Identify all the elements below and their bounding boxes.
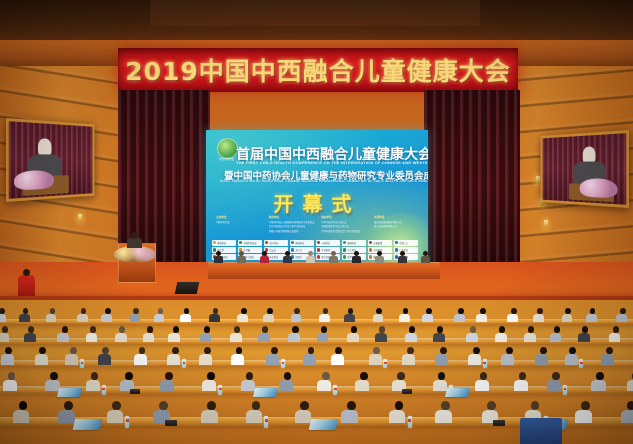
sponsor-mark-icon <box>343 241 346 244</box>
audience-head <box>213 308 219 314</box>
audience-head <box>184 308 190 314</box>
audience-member <box>595 372 606 391</box>
audience-member <box>469 326 478 342</box>
smartphone <box>165 420 177 426</box>
projection-screen-left <box>6 118 94 202</box>
audience-torso <box>550 333 562 343</box>
audience-torso <box>507 314 518 323</box>
audience-head <box>407 347 414 354</box>
organiser-column: 承办单位：中国中药协会儿童健康与药物研究专业委员会北京中西医结合学会儿科专业委员… <box>269 216 315 240</box>
audience-member <box>0 326 9 342</box>
audience-torso <box>373 314 384 323</box>
audience-head <box>506 347 513 354</box>
standing-attendant-body <box>18 275 35 297</box>
audience-torso <box>547 380 561 391</box>
audience-torso <box>433 333 445 343</box>
sponsor-mark-icon <box>239 241 242 244</box>
sponsor-name: 白云山 <box>269 248 276 252</box>
audience-head <box>102 347 109 354</box>
audience-torso <box>77 314 88 323</box>
organiser-line: 中国中药协会 <box>216 221 262 225</box>
audience-member <box>568 347 578 365</box>
audience-torso <box>468 354 481 364</box>
sponsor-mark-icon <box>317 255 320 258</box>
panelist-body <box>214 256 223 263</box>
audience-head <box>252 401 261 410</box>
audience-member <box>579 401 592 423</box>
audience-member <box>206 372 217 391</box>
organiser-columns: 主办单位：中国中药协会承办单位：中国中药协会儿童健康与药物研究专业委员会北京中西… <box>216 216 420 240</box>
audience-head <box>373 347 380 354</box>
audience-head <box>552 372 559 380</box>
wall-lamp-icon <box>78 214 82 222</box>
audience-member <box>359 372 370 391</box>
audience-head <box>540 347 547 354</box>
water-bottle <box>125 416 129 428</box>
audience-torso <box>35 354 48 364</box>
smartphone <box>402 389 412 394</box>
audience-head <box>511 308 517 314</box>
audience-torso <box>86 333 98 343</box>
audience-torso <box>562 314 573 323</box>
audience-head <box>620 308 626 314</box>
water-bottle <box>281 359 285 368</box>
audience-torso <box>575 410 591 423</box>
audience-torso <box>375 333 387 343</box>
audience-torso <box>143 333 155 343</box>
sponsor-logo: 神威药业 <box>290 240 314 246</box>
audience-torso <box>295 410 311 423</box>
sponsor-mark-icon <box>317 248 320 251</box>
audience-head <box>376 308 382 314</box>
audience-member <box>156 308 164 322</box>
audience-torso <box>495 333 507 343</box>
organiser-column: 主办单位：中国中药协会 <box>216 216 262 240</box>
sponsor-logo: 以岭药业 <box>316 240 340 246</box>
conference-booklet <box>308 419 337 430</box>
audience-torso <box>180 314 191 323</box>
sponsor-logo: 康缘药业 <box>342 240 366 246</box>
panelist-body <box>352 256 361 263</box>
audience-member <box>234 347 244 365</box>
audience-member <box>538 347 548 365</box>
audience-member <box>291 326 300 342</box>
audience-torso <box>202 380 216 391</box>
sponsor-name: 好医生 <box>295 255 302 259</box>
audience-head <box>271 347 278 354</box>
audience-head <box>207 372 214 380</box>
audience-member <box>536 308 544 322</box>
audience-member <box>306 347 316 365</box>
audience-member <box>625 401 633 423</box>
sponsor-name: 康缘药业 <box>347 241 356 245</box>
audience-head <box>284 372 291 380</box>
speaker-body <box>127 238 142 248</box>
organiser-line: 济川药业集团有限公司 <box>374 225 420 229</box>
audience-torso <box>435 354 448 364</box>
audience-member <box>89 372 100 391</box>
audience-member <box>345 401 358 423</box>
audience-member <box>282 372 293 391</box>
audience-head <box>204 326 210 333</box>
audience-torso <box>200 333 212 343</box>
audience-head <box>8 372 15 380</box>
audience-member <box>6 372 17 391</box>
audience-member <box>183 308 191 322</box>
audience-head <box>403 308 409 314</box>
audience-member <box>137 347 147 365</box>
audience-torso <box>65 354 78 364</box>
audience-torso <box>130 314 141 323</box>
audience-torso <box>341 410 357 423</box>
audience-member <box>393 401 406 423</box>
audience-head <box>90 326 96 333</box>
sponsor-mark-icon <box>317 241 320 244</box>
screen-subtitle-en-secondary: CHINA ASSOCIATION OF TRADITIONAL CHINESE… <box>220 179 428 183</box>
audience-member <box>471 347 481 365</box>
audience-torso <box>237 314 248 323</box>
conference-booklet <box>253 388 278 397</box>
panelist-body <box>260 256 269 263</box>
sponsor-name: 天士力 <box>295 248 302 252</box>
panelist-body <box>421 256 430 263</box>
audience-torso <box>621 410 633 423</box>
audience-member <box>604 347 614 365</box>
audience-torso <box>266 354 279 364</box>
organiser-column: 支持单位：葵花药业集团股份有限公司济川药业集团有限公司 <box>374 216 420 240</box>
led-stage-screen: 中国中药协会 首届中国中西融合儿童健康大会 THE FIRST CHILD HE… <box>206 130 428 265</box>
audience-member <box>402 308 410 322</box>
sponsor-name: 以岭药业 <box>321 241 330 245</box>
panelist-body <box>375 256 384 263</box>
panelist-body <box>283 256 292 263</box>
audience-member <box>68 347 78 365</box>
water-bottle <box>579 359 583 368</box>
audience-member <box>619 308 627 322</box>
audience-torso <box>591 380 605 391</box>
audience-torso <box>279 380 293 391</box>
audience-torso <box>46 314 57 323</box>
audience-head <box>133 308 139 314</box>
audience-member <box>62 401 75 423</box>
water-bottle <box>563 385 567 395</box>
audience-head <box>5 347 12 354</box>
audience-torso <box>58 410 74 423</box>
audience-torso <box>101 314 112 323</box>
audience-torso <box>230 333 242 343</box>
audience-member <box>171 347 181 365</box>
audience-member <box>171 326 180 342</box>
conference-booklet <box>57 388 82 397</box>
audience-head <box>321 326 327 333</box>
audience-torso <box>405 333 417 343</box>
screen-subtitle-en: THE FIRST CHILD HEALTH CONFERENCE ON THE… <box>236 160 426 165</box>
audience-torso <box>303 354 316 364</box>
sponsor-logo: 华润三九 <box>394 240 418 246</box>
audience-torso <box>601 354 614 364</box>
audience-seating <box>0 300 633 444</box>
audience-torso <box>134 354 147 364</box>
sponsor-name: 太极集团 <box>373 241 382 245</box>
audience-head <box>351 326 357 333</box>
audience-head <box>596 372 603 380</box>
organiser-line: 世界中医药学会联合会儿科专业委员会 <box>321 230 367 234</box>
audience-member <box>60 326 69 342</box>
audience-torso <box>263 314 274 323</box>
audience-member <box>334 347 344 365</box>
audience-head <box>139 347 146 354</box>
conference-booklet <box>445 388 470 397</box>
audience-head <box>241 308 247 314</box>
audience-head <box>236 347 243 354</box>
audience-member <box>350 326 359 342</box>
audience-head <box>565 308 571 314</box>
audience-member <box>478 372 489 391</box>
audience-head <box>2 326 8 333</box>
audience-head <box>590 308 596 314</box>
event-banner-text: 2019中国中西融合儿童健康大会 <box>125 52 511 88</box>
sponsor-mark-icon <box>213 241 216 244</box>
audience-head <box>267 308 273 314</box>
audience-member <box>479 308 487 322</box>
audience-torso <box>501 354 514 364</box>
water-bottle <box>182 359 186 368</box>
audience-member <box>132 308 140 322</box>
audience-head <box>207 401 216 410</box>
audience-member <box>321 372 332 391</box>
water-bottle <box>383 359 387 368</box>
audience-head <box>348 308 354 314</box>
stage-curtain-right <box>424 90 520 280</box>
audience-head <box>308 347 315 354</box>
organiser-column: 协办单位：中华中医药学会儿科分会中国民族医药学会儿科分会世界中医药学会联合会儿科… <box>321 216 367 240</box>
audience-head <box>438 372 445 380</box>
sponsor-name: 济川药业 <box>269 241 278 245</box>
audience-member <box>319 326 328 342</box>
audience-member <box>17 401 30 423</box>
audience-member <box>202 326 211 342</box>
screen-flowers <box>14 170 54 190</box>
sponsor-name: 中国中药协会 <box>243 241 256 245</box>
audience-head <box>323 308 329 314</box>
audience-head <box>347 401 356 410</box>
audience-torso <box>57 333 69 343</box>
screen-flowers <box>580 178 618 198</box>
audience-torso <box>0 314 6 323</box>
audience-member <box>205 401 218 423</box>
audience-head <box>473 347 480 354</box>
water-bottle <box>408 416 412 428</box>
sponsor-name: 神威药业 <box>295 241 304 245</box>
audience-head <box>627 401 633 410</box>
audience-torso <box>466 333 478 343</box>
organiser-line: 首都儿科研究所附属儿童医院 <box>269 230 315 234</box>
audience-member <box>346 308 354 322</box>
audience-head <box>159 401 168 410</box>
audience-head <box>39 347 46 354</box>
audience-member <box>372 347 382 365</box>
sponsor-name: 华润三九 <box>399 241 408 245</box>
panelist-body <box>237 256 246 263</box>
audience-member <box>298 401 311 423</box>
audience-head <box>62 326 68 333</box>
audience-torso <box>369 354 382 364</box>
audience-head <box>50 372 57 380</box>
audience-head <box>531 401 540 410</box>
audience-member <box>244 372 255 391</box>
audience-head <box>613 326 619 333</box>
audience-torso <box>475 380 489 391</box>
audience-torso <box>355 380 369 391</box>
audience-torso <box>209 314 220 323</box>
audience-torso <box>524 333 536 343</box>
audience-torso <box>627 380 633 391</box>
speaker-head <box>131 232 138 239</box>
audience-head <box>147 326 153 333</box>
panelist-body <box>306 256 315 263</box>
audience-head <box>409 326 415 333</box>
audience-head <box>173 326 179 333</box>
audience-torso <box>533 314 544 323</box>
sponsor-name: 修正药业 <box>269 255 278 259</box>
podium-flowers <box>114 246 156 262</box>
audience-member <box>240 308 248 322</box>
audience-torso <box>291 314 302 323</box>
audience-torso <box>3 380 17 391</box>
audience-torso <box>586 314 597 323</box>
audience-member <box>250 401 263 423</box>
audience-member <box>211 308 219 322</box>
audience-head <box>105 308 111 314</box>
audience-torso <box>45 380 59 391</box>
audience-member <box>261 326 270 342</box>
audience-head <box>0 308 5 314</box>
audience-torso <box>241 380 255 391</box>
audience-torso <box>616 314 627 323</box>
sponsor-mark-icon <box>265 241 268 244</box>
audience-head <box>294 308 300 314</box>
audience-torso <box>389 410 405 423</box>
water-bottle <box>102 385 106 395</box>
audience-member <box>611 326 620 342</box>
audience-member <box>269 347 279 365</box>
audience-head <box>499 326 505 333</box>
audience-member <box>408 326 417 342</box>
audience-head <box>360 372 367 380</box>
audience-torso <box>168 333 180 343</box>
audience-torso <box>199 354 212 364</box>
audience-member <box>38 347 48 365</box>
audience-member <box>0 308 6 322</box>
audience-torso <box>319 314 330 323</box>
audience-head <box>125 372 132 380</box>
audience-head <box>91 372 98 380</box>
audience-torso <box>154 314 165 323</box>
audience-head <box>322 372 329 380</box>
audience-torso <box>535 354 548 364</box>
panelist-body <box>329 256 338 263</box>
audience-torso <box>0 333 9 343</box>
audience-head <box>528 326 534 333</box>
audience-member <box>118 326 127 342</box>
audience-head <box>119 326 125 333</box>
sponsor-mark-icon <box>395 241 398 244</box>
audience-head <box>19 401 28 410</box>
water-bottle <box>483 359 487 368</box>
stage-monitor-speaker <box>175 282 200 294</box>
sponsor-mark-icon <box>369 248 372 251</box>
audience-torso <box>167 354 180 364</box>
audience-member <box>88 326 97 342</box>
audience-member <box>233 326 242 342</box>
audience-head <box>172 347 179 354</box>
audience-member <box>145 326 154 342</box>
audience-head <box>204 347 211 354</box>
audience-torso <box>422 314 433 323</box>
audience-member <box>202 347 212 365</box>
audience-member <box>104 308 112 322</box>
smartphone <box>130 389 140 394</box>
sponsor-mark-icon <box>369 255 372 258</box>
audience-head <box>234 326 240 333</box>
audience-member <box>80 308 88 322</box>
audience-torso <box>514 380 528 391</box>
audience-member <box>436 372 447 391</box>
audience-torso <box>231 354 244 364</box>
audience-head <box>554 326 560 333</box>
audience-member <box>439 401 452 423</box>
tote-bag <box>520 418 562 444</box>
audience-member <box>510 308 518 322</box>
audience-torso <box>201 410 217 423</box>
audience-head <box>569 347 576 354</box>
audience-head <box>112 401 121 410</box>
conference-booklet <box>72 419 101 430</box>
audience-head <box>23 308 29 314</box>
audience-member <box>293 308 301 322</box>
audience-member <box>27 326 36 342</box>
audience-torso <box>246 410 262 423</box>
audience-member <box>101 347 111 365</box>
audience-head <box>480 372 487 380</box>
audience-torso <box>347 333 359 343</box>
audience-head <box>581 401 590 410</box>
audience-head <box>426 308 432 314</box>
audience-member <box>322 308 330 322</box>
audience-torso <box>115 333 127 343</box>
audience-member <box>111 401 124 423</box>
sponsor-mark-icon <box>291 241 294 244</box>
audience-head <box>379 326 385 333</box>
audience-torso <box>107 410 123 423</box>
audience-torso <box>288 333 300 343</box>
audience-member <box>527 326 536 342</box>
event-banner: 2019中国中西融合儿童健康大会 <box>118 48 518 92</box>
audience-member <box>425 308 433 322</box>
audience-head <box>582 326 588 333</box>
sponsor-logo: 太极集团 <box>368 240 392 246</box>
audience-torso <box>317 380 331 391</box>
audience-torso <box>609 333 621 343</box>
audience-torso <box>433 380 447 391</box>
sponsor-mark-icon <box>343 248 346 251</box>
audience-head <box>292 326 298 333</box>
sponsor-logo: 葵花药业 <box>212 240 236 246</box>
water-bottle <box>218 385 222 395</box>
audience-head <box>437 326 443 333</box>
audience-member <box>551 372 562 391</box>
audience-head <box>246 372 253 380</box>
